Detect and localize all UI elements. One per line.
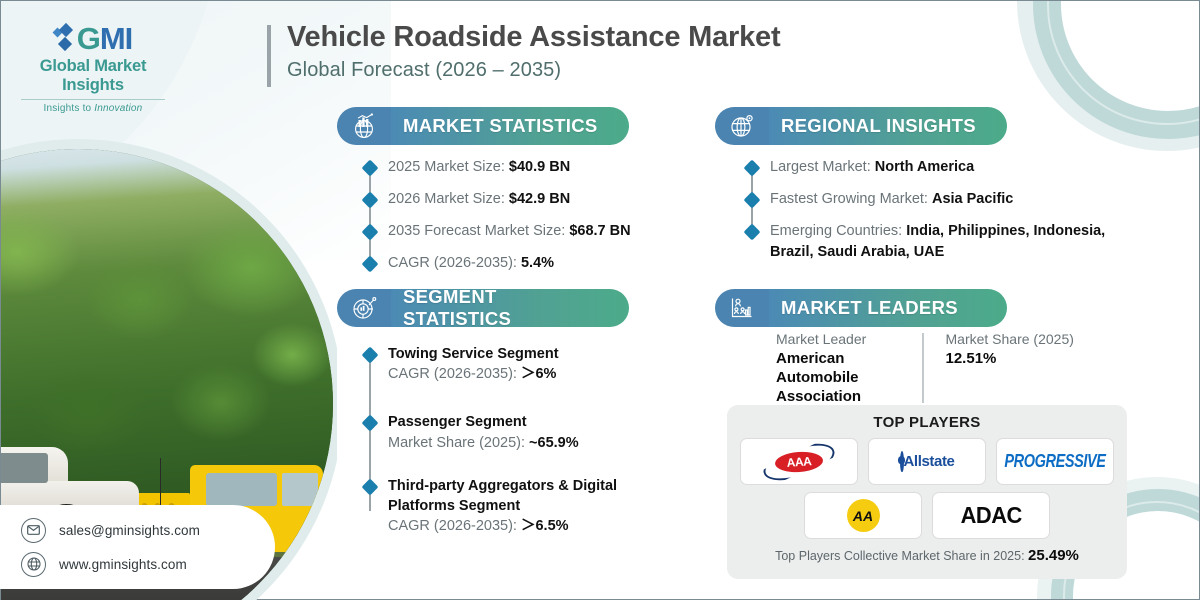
market-leader-value: American Automobile Association: [776, 349, 904, 407]
contact-panel: sales@gminsights.com www.gminsights.com: [0, 505, 275, 589]
tow-truck-window: [206, 473, 277, 506]
section-title-bar-market-statistics: MARKET STATISTICS: [389, 107, 629, 145]
contact-email-text: sales@gminsights.com: [59, 523, 200, 538]
player-card-aa[interactable]: AA: [804, 492, 922, 539]
region-value: North America: [875, 159, 974, 175]
top-players-row-2: AA ADAC: [739, 492, 1115, 539]
aaa-wordmark: AAA: [774, 450, 823, 473]
player-card-allstate[interactable]: Allstate: [868, 438, 986, 485]
contact-email-row[interactable]: sales@gminsights.com: [21, 518, 275, 543]
bullet-diamond-icon: [362, 192, 379, 209]
region-label: Largest Market:: [770, 159, 875, 175]
player-card-aaa[interactable]: AAA: [740, 438, 858, 485]
tagline-prefix: Insights to: [44, 103, 95, 114]
market-share-group: Market Share (2025) 12.51%: [946, 331, 1074, 407]
collective-share-value: 25.49%: [1028, 547, 1079, 564]
bullet-diamond-icon: [362, 478, 379, 495]
suv-window-front: [1, 453, 48, 482]
segment-name: Passenger Segment: [388, 412, 684, 432]
regional-insights-list: Largest Market: North America Fastest Gr…: [746, 157, 1106, 263]
page-title-block: Vehicle Roadside Assistance Market Globa…: [267, 21, 780, 82]
stat-label: CAGR (2026-2035):: [388, 255, 521, 271]
stat-row: 2035 Forecast Market Size: $68.7 BN: [388, 221, 694, 242]
logo-abbreviation: GMI: [77, 23, 133, 54]
stat-value: $42.9 BN: [509, 191, 570, 207]
bullet-diamond-icon: [362, 224, 379, 241]
bullet-diamond-icon: [362, 347, 379, 364]
aa-logo: AA: [847, 499, 880, 532]
list-item: Towing Service Segment CAGR (2026-2035):…: [364, 344, 684, 385]
metric-label: Market Share (2025):: [388, 435, 529, 451]
section-title-segment-statistics: SEGMENT STATISTICS: [403, 286, 609, 330]
stat-value: 5.4%: [521, 255, 554, 271]
metric-label: CAGR (2026-2035):: [388, 366, 521, 382]
pie-segment-icon: [337, 289, 391, 327]
bullet-diamond-icon: [744, 192, 761, 209]
market-share-label: Market Share (2025): [946, 331, 1074, 347]
allstate-wordmark: Allstate: [904, 453, 955, 470]
logo-letter-g: G: [77, 21, 100, 56]
region-row: Fastest Growing Market: Asia Pacific: [770, 189, 1106, 210]
list-item: Third-party Aggregators & Digital Platfo…: [364, 476, 684, 538]
top-players-panel: TOP PLAYERS AAA Allstate PROGRESSIVE AA …: [727, 405, 1127, 579]
section-header-regional-insights: REGIONAL INSIGHTS: [715, 107, 1007, 145]
section-title-bar-segment-statistics: SEGMENT STATISTICS: [389, 289, 629, 327]
section-header-market-leaders: MARKET LEADERS: [715, 289, 1007, 327]
stat-row: 2025 Market Size: $40.9 BN: [388, 157, 694, 178]
stat-label: 2035 Forecast Market Size:: [388, 223, 569, 239]
top-players-title: TOP PLAYERS: [739, 414, 1115, 431]
metric-label: CAGR (2026-2035):: [388, 518, 521, 534]
list-item: Passenger Segment Market Share (2025): ~…: [364, 412, 684, 453]
player-card-progressive[interactable]: PROGRESSIVE: [996, 438, 1114, 485]
region-value: Asia Pacific: [932, 191, 1013, 207]
globe-pin-icon: [715, 107, 769, 145]
region-label: Fastest Growing Market:: [770, 191, 932, 207]
allstate-hands-icon: [900, 451, 904, 472]
stat-row: CAGR (2026-2035): 5.4%: [388, 253, 694, 274]
bullet-diamond-icon: [362, 256, 379, 273]
page-title: Vehicle Roadside Assistance Market: [287, 21, 780, 54]
globe-icon: [21, 552, 46, 577]
contact-website-row[interactable]: www.gminsights.com: [21, 552, 275, 577]
bullet-diamond-icon: [362, 415, 379, 432]
bullet-diamond-icon: [744, 224, 761, 241]
aaa-logo: AAA: [762, 447, 836, 477]
list-item: 2026 Market Size: $42.9 BN: [364, 189, 694, 210]
tow-truck-windshield: [282, 473, 318, 506]
bullet-diamond-icon: [362, 160, 379, 177]
market-leader-label: Market Leader: [776, 331, 904, 347]
section-title-regional-insights: REGIONAL INSIGHTS: [781, 115, 976, 137]
logo-mark-row: GMI: [13, 23, 173, 54]
region-row: Emerging Countries: India, Philippines, …: [770, 221, 1106, 263]
logo-tagline: Insights to Innovation: [13, 103, 173, 114]
segment-metric: CAGR (2026-2035): ＞6%: [388, 364, 684, 385]
stat-value: $68.7 BN: [569, 223, 630, 239]
segment-name: Towing Service Segment: [388, 344, 684, 364]
segment-name: Third-party Aggregators & Digital Platfo…: [388, 476, 684, 517]
region-row: Largest Market: North America: [770, 157, 1106, 178]
market-share-value: 12.51%: [946, 350, 1074, 367]
adac-logo: ADAC: [960, 502, 1021, 529]
metric-value: ~65.9%: [529, 435, 579, 451]
podium-ranking-icon: [715, 289, 769, 327]
diamond-cluster-icon: [54, 24, 74, 54]
stat-row: 2026 Market Size: $42.9 BN: [388, 189, 694, 210]
segment-metric: CAGR (2026-2035): ＞6.5%: [388, 516, 684, 537]
title-accent-bar: [267, 25, 271, 87]
segment-statistics-list: Towing Service Segment CAGR (2026-2035):…: [364, 344, 684, 537]
list-item: Fastest Growing Market: Asia Pacific: [746, 189, 1106, 210]
page-subtitle: Global Forecast (2026 – 2035): [287, 59, 780, 82]
envelope-icon: [21, 518, 46, 543]
metric-value: ＞6.5%: [521, 518, 569, 534]
section-title-market-leaders: MARKET LEADERS: [781, 297, 958, 319]
stat-label: 2026 Market Size:: [388, 191, 509, 207]
contact-website-text: www.gminsights.com: [59, 557, 187, 572]
section-title-market-statistics: MARKET STATISTICS: [403, 115, 598, 137]
logo-divider: [21, 99, 165, 100]
stat-label: 2025 Market Size:: [388, 159, 509, 175]
leader-divider: [922, 333, 924, 403]
section-title-bar-regional-insights: REGIONAL INSIGHTS: [767, 107, 1007, 145]
logo-letter-mi: MI: [100, 21, 132, 56]
list-item: Emerging Countries: India, Philippines, …: [746, 221, 1106, 263]
market-leader-block: Market Leader American Automobile Associ…: [776, 331, 1074, 407]
top-players-footer: Top Players Collective Market Share in 2…: [739, 547, 1115, 564]
stat-value: $40.9 BN: [509, 159, 570, 175]
bullet-diamond-icon: [744, 160, 761, 177]
progressive-logo: PROGRESSIVE: [1004, 452, 1105, 472]
gmi-logo[interactable]: GMI Global Market Insights Insights to I…: [13, 23, 173, 114]
timeline-connector: [369, 167, 371, 263]
tagline-emphasis: Innovation: [94, 103, 142, 114]
list-item: 2035 Forecast Market Size: $68.7 BN: [364, 221, 694, 242]
section-title-bar-market-leaders: MARKET LEADERS: [767, 289, 1007, 327]
segment-metric: Market Share (2025): ~65.9%: [388, 433, 684, 454]
list-item: CAGR (2026-2035): 5.4%: [364, 253, 694, 274]
section-header-market-statistics: MARKET STATISTICS: [337, 107, 629, 145]
section-header-segment-statistics: SEGMENT STATISTICS: [337, 289, 629, 327]
allstate-logo: Allstate: [900, 454, 955, 470]
collective-share-label: Top Players Collective Market Share in 2…: [775, 549, 1028, 563]
list-item: Largest Market: North America: [746, 157, 1106, 178]
globe-bar-chart-icon: [337, 107, 391, 145]
logo-company-name: Global Market Insights: [13, 57, 173, 95]
player-card-adac[interactable]: ADAC: [932, 492, 1050, 539]
top-players-row-1: AAA Allstate PROGRESSIVE: [739, 438, 1115, 485]
market-leader-name-group: Market Leader American Automobile Associ…: [776, 331, 904, 407]
metric-value: ＞6%: [521, 366, 556, 382]
region-label: Emerging Countries:: [770, 223, 906, 239]
list-item: 2025 Market Size: $40.9 BN: [364, 157, 694, 178]
market-statistics-list: 2025 Market Size: $40.9 BN 2026 Market S…: [364, 157, 694, 274]
